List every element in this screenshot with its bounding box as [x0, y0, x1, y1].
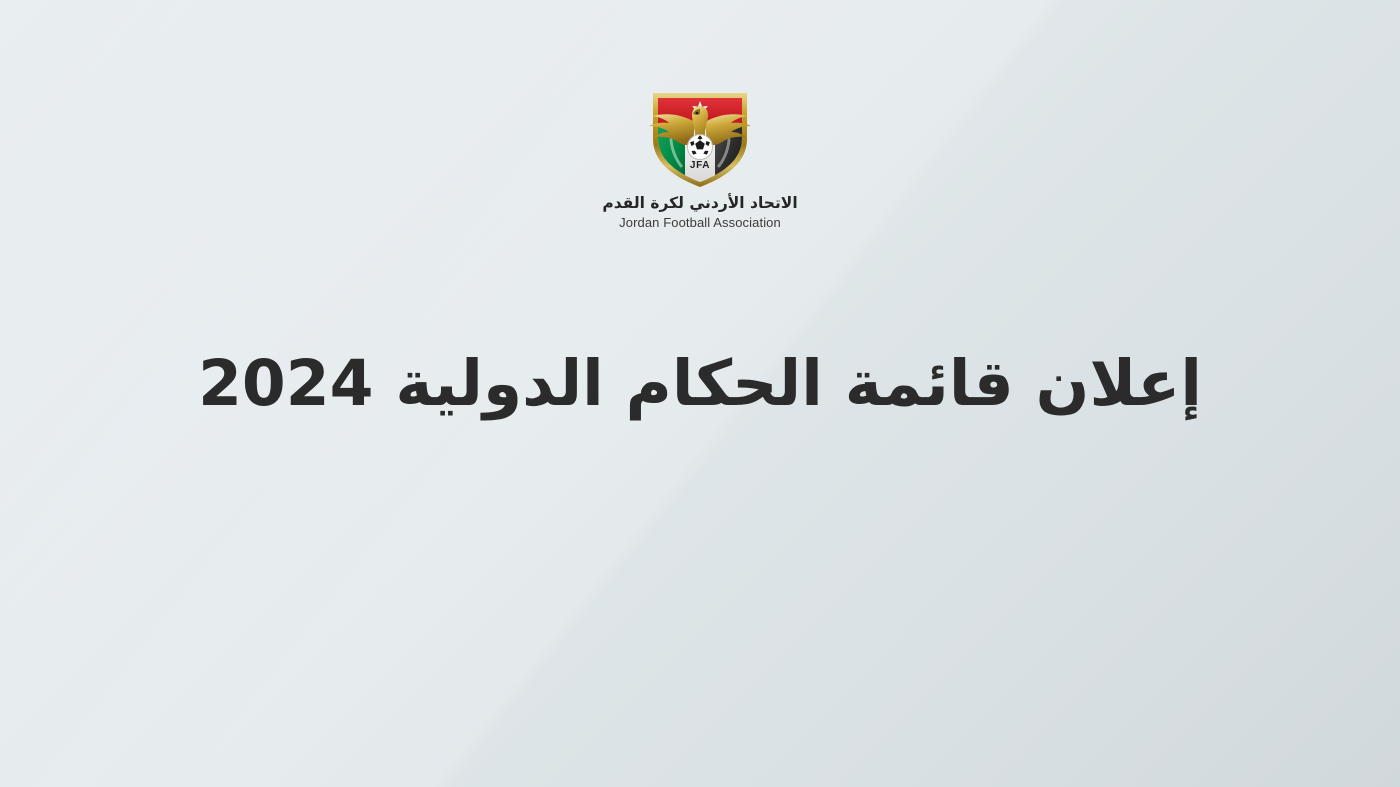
brand-name-english: Jordan Football Association — [619, 215, 781, 231]
headline-container: إعلان قائمة الحكام الدولية 2024 — [0, 334, 1400, 434]
svg-text:JFA: JFA — [690, 160, 710, 171]
page-title: إعلان قائمة الحكام الدولية 2024 — [198, 347, 1202, 421]
jfa-crest-icon: JFA — [638, 84, 762, 188]
brand-name-arabic: الاتحاد الأردني لكرة القدم — [602, 195, 797, 213]
announcement-slide: JFA الاتحاد الأردني لكرة القدم Jordan Fo… — [0, 0, 1400, 787]
brand-block: JFA الاتحاد الأردني لكرة القدم Jordan Fo… — [0, 84, 1400, 230]
